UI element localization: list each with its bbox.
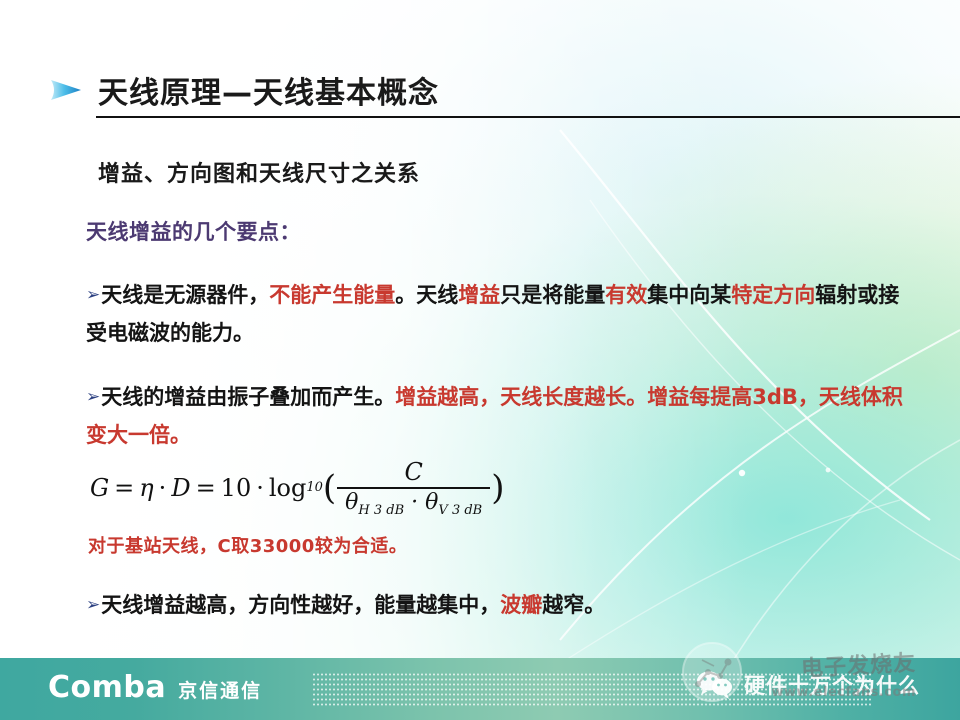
formula-equals-1: = (114, 474, 134, 502)
bullet-1-segments: 天线是无源器件，不能产生能量。天线增益只是将能量有效集中向某特定方向辐射或接受电… (86, 283, 899, 345)
slide-title-row: 天线原理—天线基本概念 (48, 68, 439, 112)
bullet-paragraph-1: ➢天线是无源器件，不能产生能量。天线增益只是将能量有效集中向某特定方向辐射或接受… (86, 276, 906, 352)
wechat-account-name: 硬件十万个为什么 (744, 670, 920, 700)
formula-eta: η (139, 474, 153, 502)
text-run-1: 不能产生能量 (269, 283, 395, 307)
comba-logo-latin: Comba (48, 670, 166, 705)
formula-equals-2: = (196, 474, 216, 502)
arrow-bullet-icon-1: ➢ (86, 285, 100, 305)
text-run-2: 越窄。 (542, 593, 605, 617)
arrow-bullet-icon-2: ➢ (86, 387, 100, 407)
text-run-1: 波瓣 (500, 593, 542, 617)
comba-logo: Comba 京信通信 (48, 670, 262, 705)
text-run-2: 。天线 (395, 283, 458, 307)
bullet-paragraph-3: ➢天线增益越高，方向性越好，能量越集中，波瓣越窄。 (86, 586, 906, 624)
formula-theta-h: θ (345, 490, 358, 515)
text-run-4: 只是将能量 (500, 283, 605, 307)
formula-numerator: C (395, 458, 433, 487)
formula-log-base: 10 (306, 480, 323, 495)
comba-logo-chinese: 京信通信 (178, 676, 262, 703)
gain-formula: G = η · D = 10 · log 10 ( C θH 3 dB · θV… (90, 458, 505, 518)
formula-g: G (90, 474, 109, 502)
text-run-0: 天线增益越高，方向性越好，能量越集中， (101, 593, 500, 617)
formula-den-dot: · (411, 490, 418, 515)
triangle-bullet-icon (48, 77, 84, 103)
section-heading: 天线增益的几个要点： (86, 216, 301, 246)
bullet-3-segments: 天线增益越高，方向性越好，能量越集中，波瓣越窄。 (101, 593, 605, 617)
bullet-2-segments: 天线的增益由振子叠加而产生。增益越高，天线长度越长。增益每提高3dB，天线体积变… (86, 385, 903, 447)
formula-theta-h-sub: H 3 dB (358, 503, 404, 518)
wechat-account-block: 硬件十万个为什么 (695, 669, 920, 701)
footer-bar: Comba 京信通信 硬件十万个为什么 (0, 658, 960, 720)
formula-dot-1: · (159, 474, 167, 502)
formula-fraction: C θH 3 dB · θV 3 dB (337, 458, 490, 518)
formula-ten: 10 (221, 474, 252, 502)
text-run-6: 集中向某 (647, 283, 731, 307)
text-run-7: 特定方向 (731, 283, 815, 307)
formula-log: log (269, 474, 307, 502)
slide-canvas: 天线原理—天线基本概念 增益、方向图和天线尺寸之关系 天线增益的几个要点： ➢天… (0, 0, 960, 720)
text-run-3: 增益 (458, 283, 500, 307)
formula-close-paren: ) (491, 471, 504, 505)
wechat-icon (695, 669, 735, 701)
formula-theta-v-sub: V 3 dB (438, 503, 482, 518)
formula-open-paren: ( (323, 471, 336, 505)
slide-subtitle: 增益、方向图和天线尺寸之关系 (98, 156, 420, 188)
formula-dot-2: · (256, 474, 264, 502)
page-title: 天线原理—天线基本概念 (98, 68, 439, 112)
bullet-paragraph-2: ➢天线的增益由振子叠加而产生。增益越高，天线长度越长。增益每提高3dB，天线体积… (86, 378, 906, 454)
formula-denominator: θH 3 dB · θV 3 dB (337, 489, 490, 518)
text-run-0: 天线是无源器件， (101, 283, 269, 307)
title-divider (96, 116, 960, 118)
text-run-5: 有效 (605, 283, 647, 307)
text-run-0: 天线的增益由振子叠加而产生。 (101, 385, 395, 409)
arrow-bullet-icon-3: ➢ (86, 595, 100, 615)
formula-theta-v: θ (425, 490, 438, 515)
formula-note: 对于基站天线，C取33000较为合适。 (88, 532, 407, 558)
formula-d: D (171, 474, 190, 502)
